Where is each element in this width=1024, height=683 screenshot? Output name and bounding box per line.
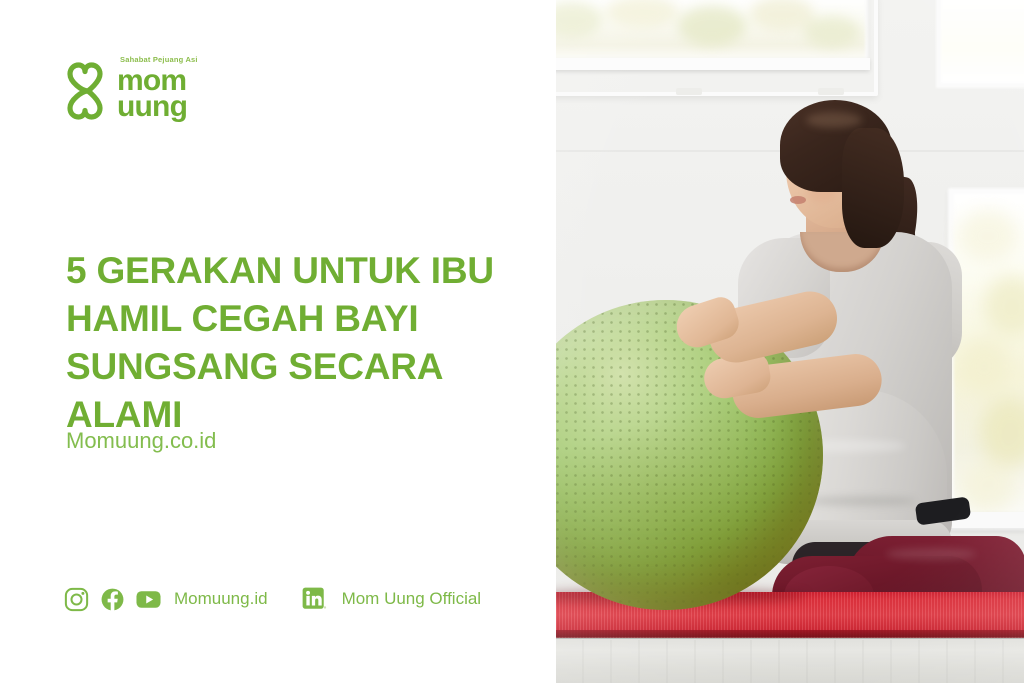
blog-banner: Sahabat Pejuang Asi mom uung 5 GERAKAN U… — [0, 0, 1024, 683]
page-title: 5 GERAKAN UNTUK IBU HAMIL CEGAH BAYI SUN… — [66, 247, 506, 439]
window-top-frame — [556, 0, 878, 96]
shirt-fold — [806, 496, 916, 506]
floor-grain — [556, 640, 1024, 683]
brand-word-uung: uung — [117, 95, 187, 120]
hair-side — [842, 128, 904, 248]
linkedin-icon[interactable] — [302, 587, 327, 612]
website-url[interactable]: Momuung.co.id — [66, 428, 216, 454]
linkedin-name-label: Mom Uung Official — [342, 589, 482, 609]
brand-wordmark: Sahabat Pejuang Asi mom uung — [117, 69, 187, 120]
leg-highlight — [886, 548, 976, 560]
text-panel: Sahabat Pejuang Asi mom uung 5 GERAKAN U… — [0, 0, 556, 683]
social-handle-label: Momuung.id — [174, 589, 268, 609]
window-handle-right — [818, 88, 844, 95]
facebook-icon[interactable] — [100, 587, 125, 612]
window-right-foliage — [954, 196, 1024, 512]
window-top-rail — [556, 58, 870, 70]
window-handle-left — [676, 88, 702, 95]
brand-tagline: Sahabat Pejuang Asi — [120, 55, 198, 64]
hero-photo — [556, 0, 1024, 683]
hair-highlight — [806, 112, 862, 128]
social-footer: Momuung.id Mom Uung Official — [64, 583, 481, 615]
headline-line-1: 5 GERAKAN UNTUK IBU — [66, 247, 506, 295]
floor-edge-line — [556, 637, 1024, 639]
headline-line-2: HAMIL CEGAH BAYI — [66, 295, 506, 343]
youtube-icon[interactable] — [136, 587, 161, 612]
lips — [790, 196, 806, 204]
brand-logo[interactable]: Sahabat Pejuang Asi mom uung — [66, 58, 187, 120]
yoga-mat-edge — [556, 630, 1024, 637]
instagram-icon[interactable] — [64, 587, 89, 612]
momuung-knot-logo-icon — [66, 62, 110, 120]
window-top-right — [936, 0, 1024, 88]
headline-line-3: SUNGSANG SECARA — [66, 343, 506, 391]
